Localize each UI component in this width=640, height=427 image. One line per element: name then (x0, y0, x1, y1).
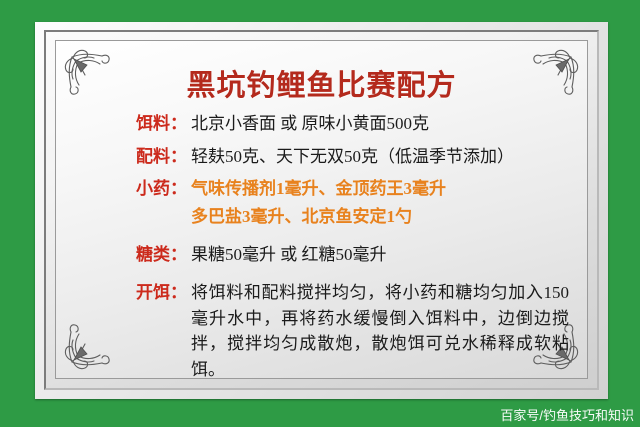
poster-frame-bevel: 黑坑钓鲤鱼比赛配方 饵料 ： 北京小香面 或 原味小黄面500克 配料 ： (44, 30, 599, 390)
recipe-rows: 饵料 ： 北京小香面 或 原味小黄面500克 配料 ： 轻麸50克、天下无双50… (72, 109, 571, 379)
row-colon-ingredients: ： (170, 142, 191, 167)
recipe-row-preparation: 开饵 ： 将饵料和配料搅拌均匀，将小药和糖均匀加入150毫升水中，再将药水缓慢倒… (96, 278, 569, 379)
page-title: 黑坑钓鲤鱼比赛配方 (72, 71, 571, 101)
row-value-ingredients: 轻麸50克、天下无双50克（低温季节添加） (191, 145, 569, 169)
row-value-additive-second: 多巴盐3毫升、北京鱼安定1勺 (191, 205, 569, 229)
row-value-preparation: 将饵料和配料搅拌均匀，将小药和糖均匀加入150毫升水中，再将药水缓慢倒入饵料中，… (191, 280, 569, 379)
row-label-bait: 饵料 (96, 109, 170, 134)
poster-content: 黑坑钓鲤鱼比赛配方 饵料 ： 北京小香面 或 原味小黄面500克 配料 ： (56, 41, 587, 378)
row-label-sugar: 糖类 (96, 240, 170, 265)
poster-frame-outer: 黑坑钓鲤鱼比赛配方 饵料 ： 北京小香面 或 原味小黄面500克 配料 ： (35, 22, 608, 399)
recipe-row-ingredients: 配料 ： 轻麸50克、天下无双50克（低温季节添加） (96, 142, 569, 169)
row-colon-additive: ： (170, 174, 191, 199)
row-colon-sugar: ： (170, 240, 191, 265)
recipe-row-additive: 小药 ： 气味传播剂1毫升、金顶药王3毫升 (96, 174, 569, 201)
row-value-sugar: 果糖50毫升 或 红糖50毫升 (191, 243, 569, 267)
recipe-row-bait: 饵料 ： 北京小香面 或 原味小黄面500克 (96, 109, 569, 136)
watermark: 百家号/钓鱼技巧和知识 (500, 405, 634, 424)
row-value-additive: 气味传播剂1毫升、金顶药王3毫升 (191, 177, 569, 201)
row-label-ingredients: 配料 (96, 142, 170, 167)
poster-canvas: 黑坑钓鲤鱼比赛配方 饵料 ： 北京小香面 或 原味小黄面500克 配料 ： (0, 0, 640, 427)
row-label-preparation: 开饵 (96, 278, 170, 303)
recipe-row-additive-continued: 小药 ： 多巴盐3毫升、北京鱼安定1勺 (96, 202, 569, 229)
row-colon-bait: ： (170, 109, 191, 134)
recipe-row-sugar: 糖类 ： 果糖50毫升 或 红糖50毫升 (96, 240, 569, 267)
poster-frame-inner: 黑坑钓鲤鱼比赛配方 饵料 ： 北京小香面 或 原味小黄面500克 配料 ： (55, 40, 588, 379)
row-value-bait: 北京小香面 或 原味小黄面500克 (191, 112, 569, 136)
row-label-additive: 小药 (96, 174, 170, 199)
row-colon-preparation: ： (170, 278, 191, 303)
